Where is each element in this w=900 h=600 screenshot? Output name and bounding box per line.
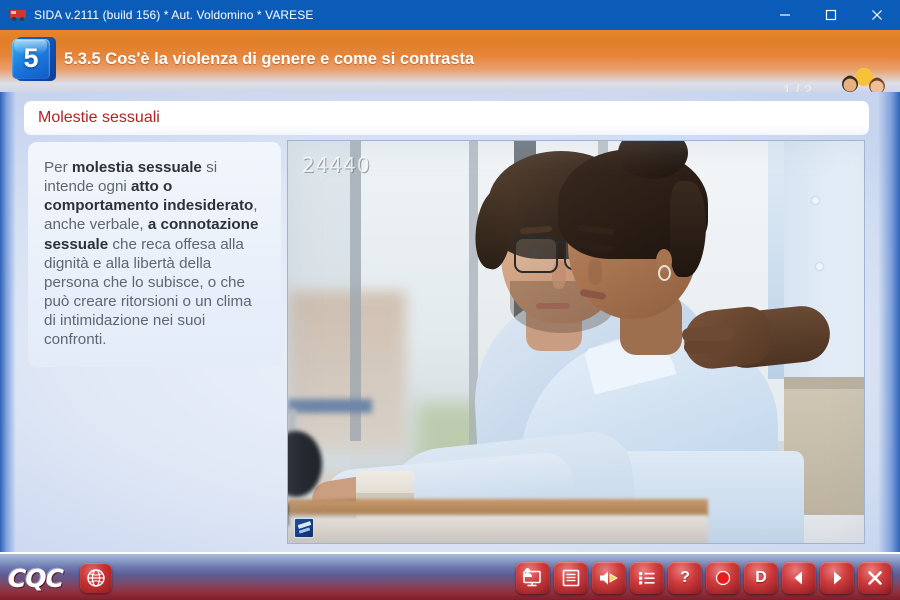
cqc-brand-logo: CQC: [8, 564, 63, 593]
section-subtitle: Molestie sessuali: [38, 109, 160, 127]
next-button[interactable]: [820, 562, 854, 594]
window-title: SIDA v.2111 (build 156) * Aut. Voldomino…: [34, 8, 314, 22]
audio-button[interactable]: [592, 562, 626, 594]
definition-paragraph: Per molestia sessuale si intende ogni at…: [44, 159, 258, 348]
help-button-label: ?: [680, 569, 690, 587]
close-button[interactable]: [858, 562, 892, 594]
section-subtitle-bar: Molestie sessuali: [24, 101, 869, 135]
footer-button-group: ? D: [516, 562, 892, 594]
stage-right-edge: [878, 92, 900, 552]
window-title-bar[interactable]: SIDA v.2111 (build 156) * Aut. Voldomino…: [0, 0, 900, 30]
close-icon[interactable]: [854, 0, 900, 30]
index-button[interactable]: [630, 562, 664, 594]
globe-icon[interactable]: [80, 563, 112, 593]
chapter-badge-icon: 5: [10, 35, 58, 83]
dictionary-button[interactable]: D: [744, 562, 778, 594]
sida-logo-icon: [294, 518, 314, 538]
image-watermark: 24440: [302, 153, 371, 177]
stage-left-edge: [0, 92, 16, 552]
body-text: Per: [44, 159, 72, 176]
lesson-image: 24440: [287, 140, 865, 544]
presentation-button[interactable]: [516, 562, 550, 594]
page-title: 5.3.5 Cos'è la violenza di genere e come…: [64, 50, 474, 69]
emphasis-text: molestia sessuale: [72, 159, 202, 176]
dictionary-button-label: D: [755, 569, 767, 587]
chapter-badge-number: 5: [12, 38, 50, 78]
help-button[interactable]: ?: [668, 562, 702, 594]
previous-button[interactable]: [782, 562, 816, 594]
truck-icon: [10, 7, 26, 23]
definition-text-card: Per molestia sessuale si intende ogni at…: [28, 142, 281, 367]
text-button[interactable]: [554, 562, 588, 594]
window-controls: [762, 0, 900, 30]
lesson-header: 5 5.3.5 Cos'è la violenza di genere e co…: [0, 30, 900, 92]
record-button[interactable]: [706, 562, 740, 594]
minimize-icon[interactable]: [762, 0, 808, 30]
maximize-icon[interactable]: [808, 0, 854, 30]
